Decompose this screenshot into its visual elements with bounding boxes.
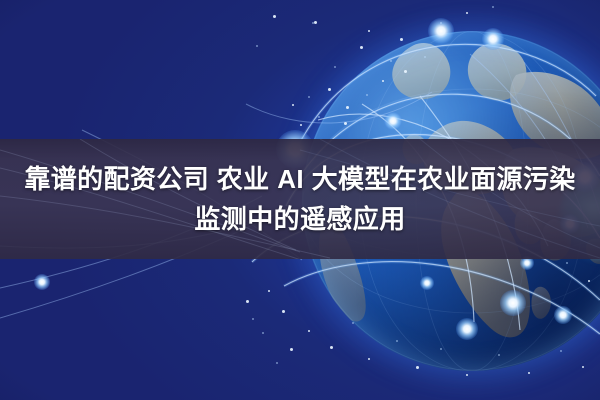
banner-image: 靠谱的配资公司 农业 AI 大模型在农业面源污染 监测中的遥感应用 <box>0 0 600 400</box>
vignette-overlay <box>0 0 600 400</box>
